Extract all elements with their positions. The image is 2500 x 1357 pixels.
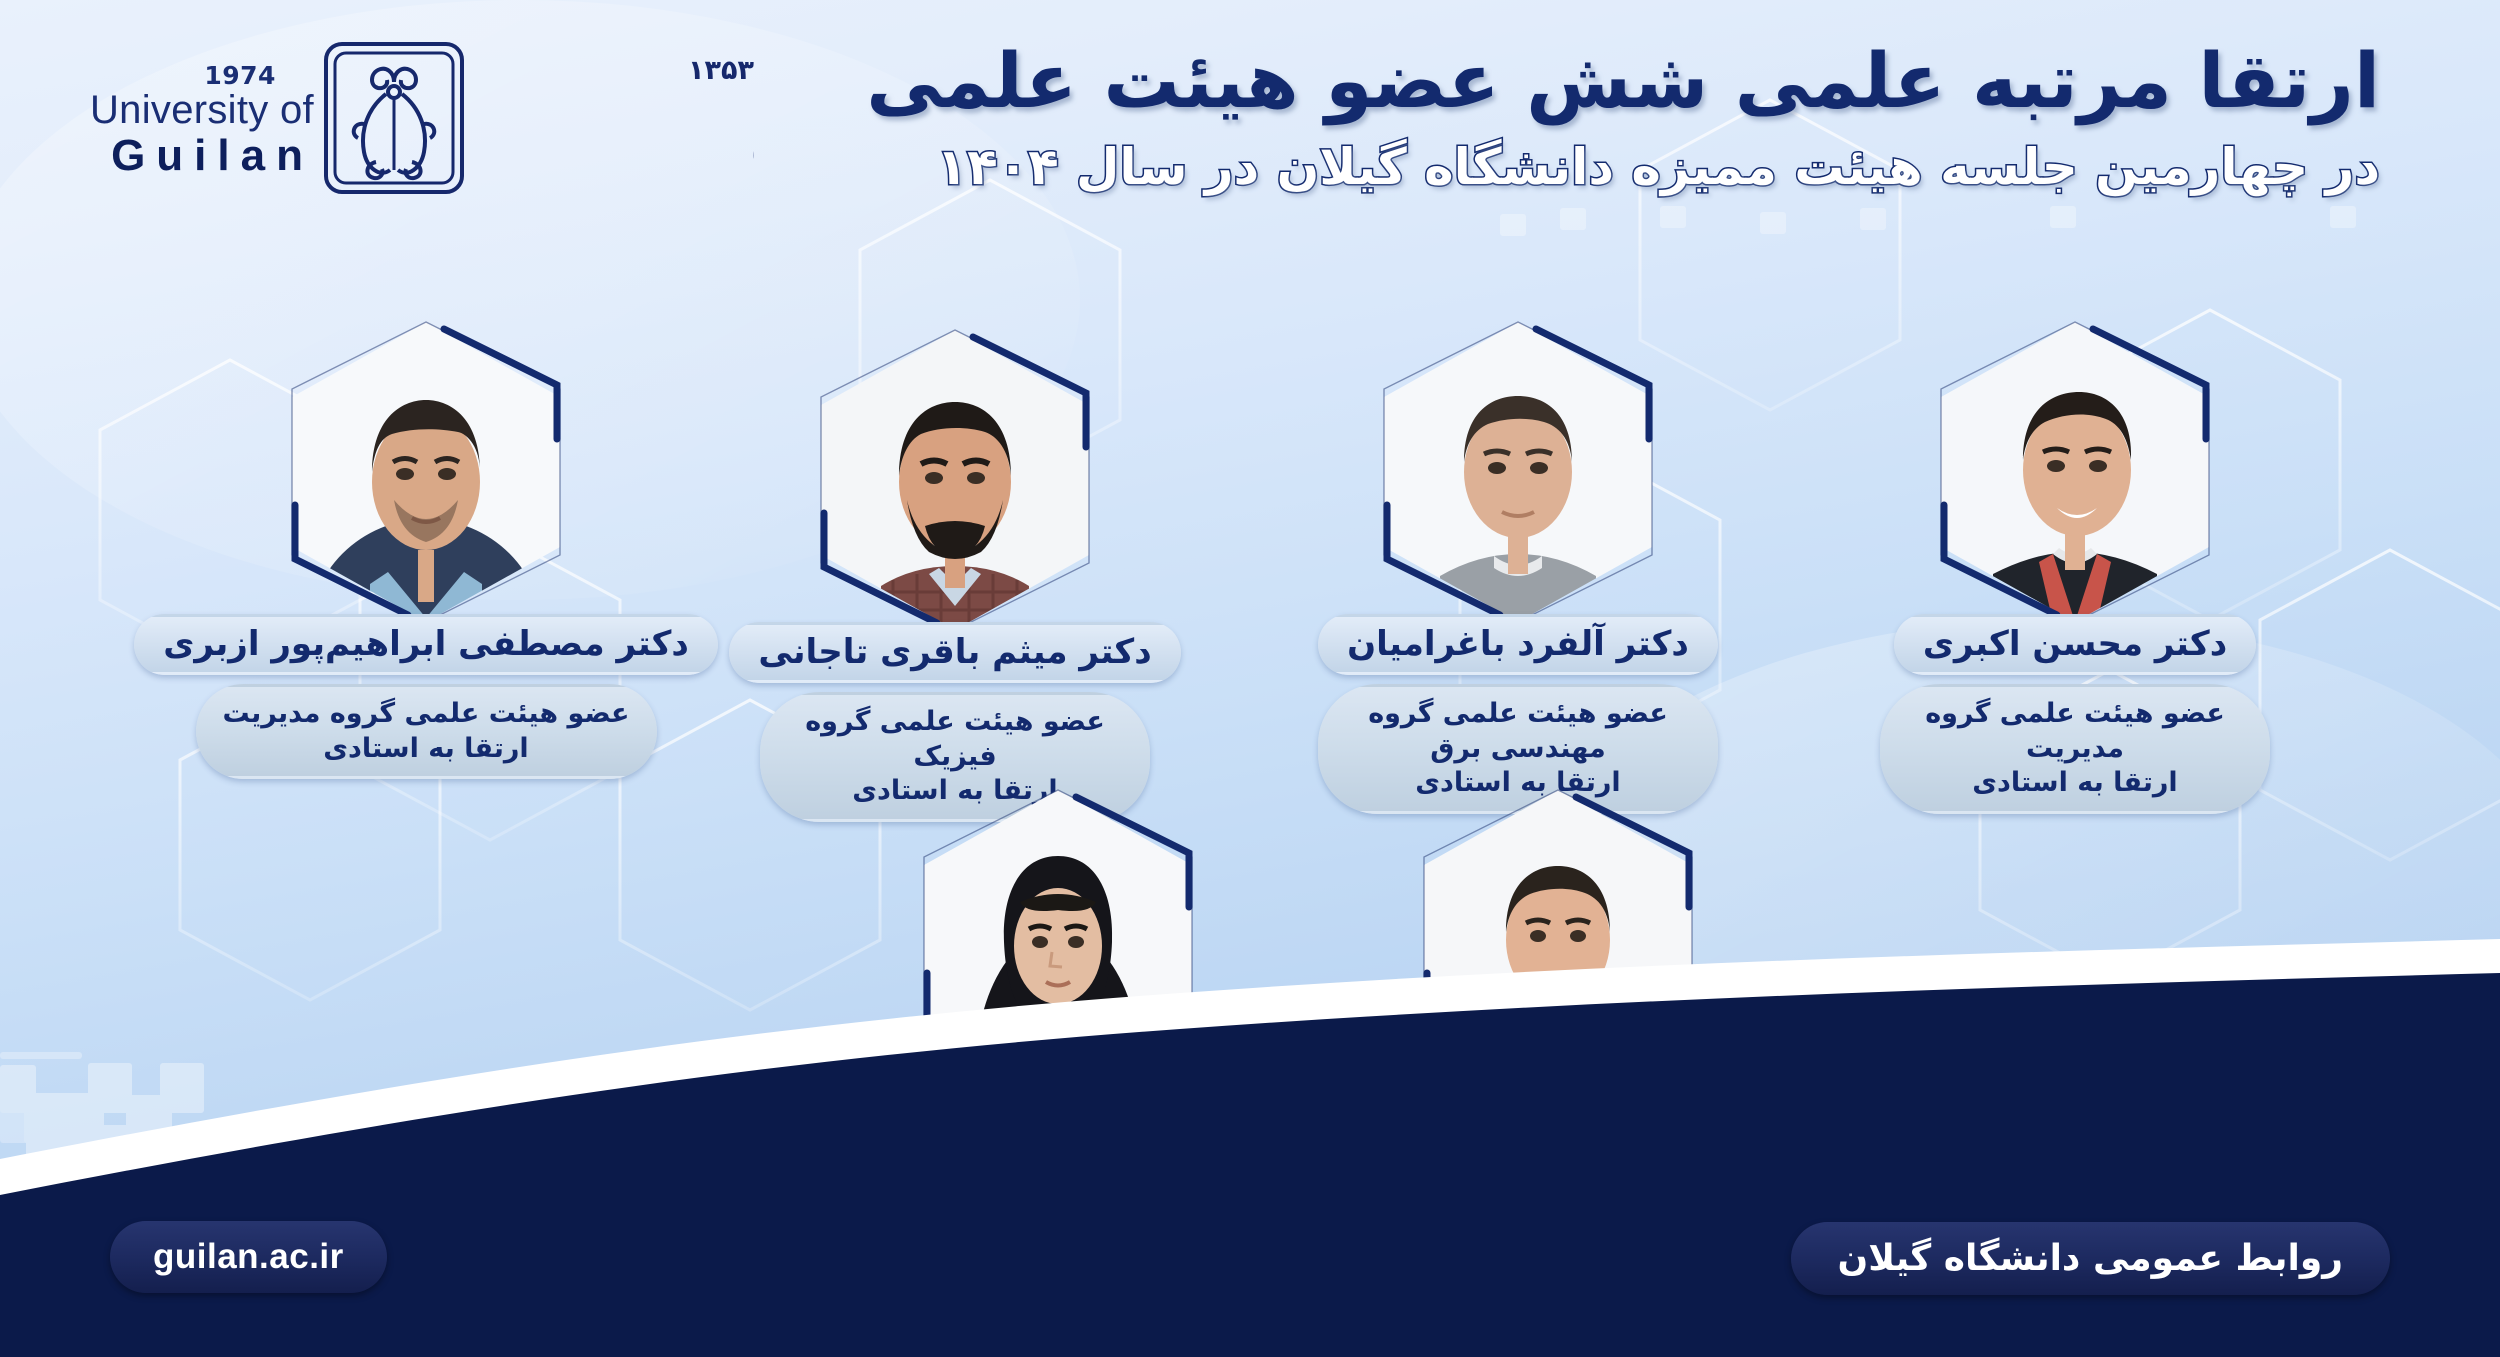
person-role-line-2: ارتقا به استادی — [223, 732, 630, 767]
hex-accent-stroke — [289, 319, 563, 625]
person-role-line-1: عضو هیئت علمی گروه مدیریت — [1907, 697, 2243, 766]
poster-canvas: 1974 University of Guilan ۱۳۵۳ — [0, 0, 2500, 1357]
person-name-badge: دکتر محسن اکبری — [1894, 614, 2256, 675]
photo-frame — [292, 322, 560, 622]
person-role-line-1: عضو هیئت علمی گروه مدیریت — [223, 697, 630, 732]
person-role-badge: عضو هیئت علمی گروه مدیریت ارتقا به استاد… — [1880, 684, 2270, 814]
hex-accent-stroke — [818, 327, 1092, 633]
person-card-bagheri-tajani[interactable]: دکتر میثم باقری تاجانی عضو هیئت علمی گرو… — [760, 330, 1150, 822]
person-card-akbari[interactable]: دکتر محسن اکبری عضو هیئت علمی گروه مدیری… — [1880, 322, 2270, 814]
photo-frame — [1941, 322, 2209, 622]
person-role-line-1: عضو هیئت علمی گروه مهندسی برق — [1345, 697, 1691, 766]
person-name-badge: دکتر میثم باقری تاجانی — [729, 622, 1180, 683]
public-relations-label: روابط عمومی دانشگاه گیلان — [1838, 1238, 2343, 1279]
photo-frame — [1384, 322, 1652, 622]
person-card-baghramian[interactable]: دکتر آلفرد باغرامیان عضو هیئت علمی گروه … — [1318, 322, 1718, 814]
person-role-badge: عضو هیئت علمی گروه مدیریت ارتقا به استاد… — [196, 684, 657, 779]
person-role-line-2: ارتقا به استادی — [1907, 766, 2243, 801]
person-name-badge: دکتر مصطفی ابراهیم‌پور ازبری — [134, 614, 718, 675]
person-role-line-1: عضو هیئت علمی گروه فیزیک — [787, 705, 1123, 774]
person-name: دکتر آلفرد باغرامیان — [1347, 626, 1689, 663]
person-name: دکتر مصطفی ابراهیم‌پور ازبری — [163, 626, 689, 663]
public-relations-badge: روابط عمومی دانشگاه گیلان — [1791, 1222, 2390, 1295]
person-card-ebrahimpour-azbari[interactable]: دکتر مصطفی ابراهیم‌پور ازبری عضو هیئت عل… — [146, 322, 706, 779]
hex-accent-stroke — [1938, 319, 2212, 625]
person-name-badge: دکتر آلفرد باغرامیان — [1318, 614, 1718, 675]
person-name: دکتر محسن اکبری — [1923, 626, 2227, 663]
website-url: guilan.ac.ir — [153, 1237, 344, 1277]
person-name: دکتر میثم باقری تاجانی — [758, 634, 1151, 671]
website-badge[interactable]: guilan.ac.ir — [110, 1221, 387, 1293]
hex-accent-stroke — [1381, 319, 1655, 625]
photo-frame — [821, 330, 1089, 630]
